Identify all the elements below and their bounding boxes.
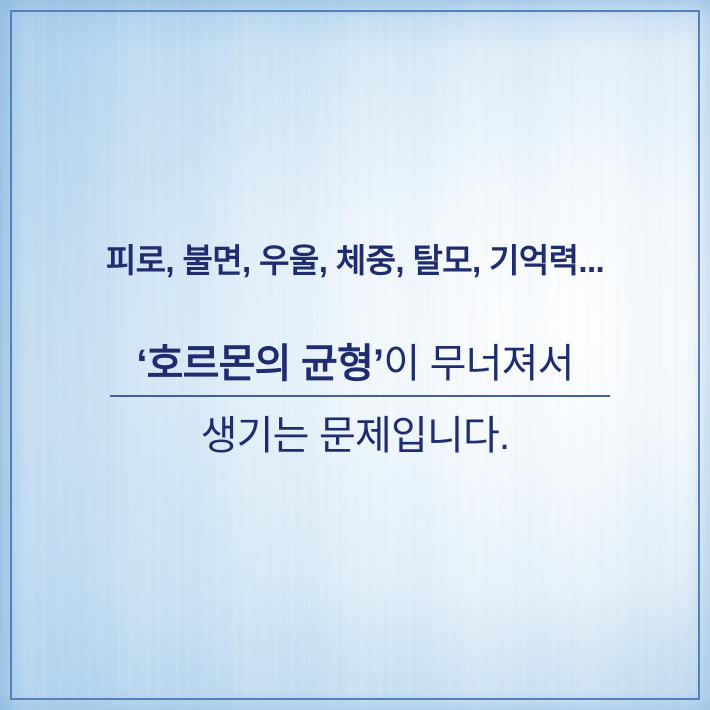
tail-headline: 생기는 문제입니다.: [0, 412, 710, 461]
main-headline-rest: 이 무너져서: [383, 342, 573, 386]
text-content-block: 피로, 불면, 우울, 체중, 탈모, 기억력... ‘호르몬의 균형’이 무너…: [0, 0, 710, 710]
poster-canvas: 피로, 불면, 우울, 체중, 탈모, 기억력... ‘호르몬의 균형’이 무너…: [0, 0, 710, 710]
headline-underline: [110, 395, 610, 397]
symptoms-headline: 피로, 불면, 우울, 체중, 탈모, 기억력...: [0, 240, 710, 281]
main-headline: ‘호르몬의 균형’이 무너져서: [0, 340, 710, 389]
main-headline-emphasis: ‘호르몬의 균형’: [136, 342, 383, 386]
